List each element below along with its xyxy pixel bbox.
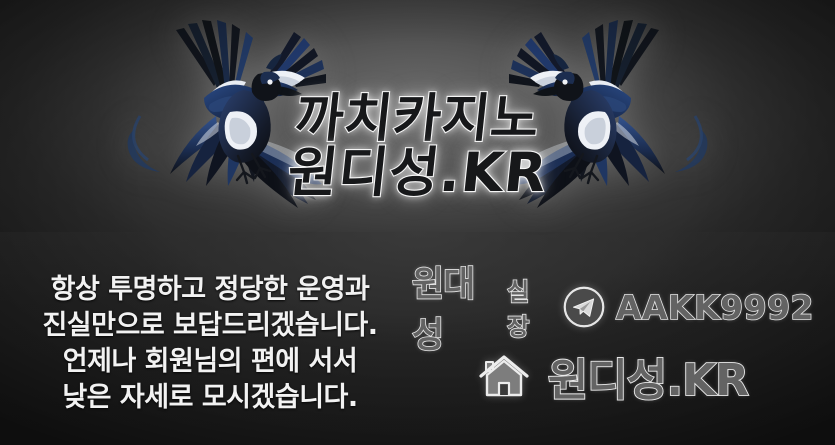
telegram-icon[interactable] — [562, 285, 606, 329]
casino-promo-banner: 까치카지노 원디성.KR 항상 투명하고 정당한 운영과 진실만으로 보답드리겠… — [0, 0, 835, 445]
slogan-line-3: 언제나 회원님의 편에 서서 — [26, 344, 394, 380]
slogan-line-2: 진실만으로 보답드리겠습니다. — [26, 308, 394, 344]
website-url[interactable]: 원디성.KR — [548, 344, 748, 408]
slogan-line-1: 항상 투명하고 정당한 운영과 — [26, 272, 394, 308]
contact-block: 원대성 실장 AAKK9992 원디성.KR — [412, 276, 814, 412]
manager-name: 원대성 — [412, 256, 498, 358]
telegram-contact-row[interactable]: 원대성 실장 AAKK9992 — [412, 276, 814, 338]
home-icon — [478, 350, 530, 402]
manager-role: 실장 — [507, 272, 546, 342]
slogan-block: 항상 투명하고 정당한 운영과 진실만으로 보답드리겠습니다. 언제나 회원님의… — [26, 272, 394, 416]
telegram-handle[interactable]: AAKK9992 — [616, 288, 814, 327]
brand-title-line-2: 원디성.KR — [0, 148, 835, 198]
slogan-line-4: 낮은 자세로 모시겠습니다. — [26, 380, 394, 416]
brand-title: 까치카지노 원디성.KR — [0, 96, 835, 198]
brand-title-line-1: 까치카지노 — [0, 96, 835, 144]
